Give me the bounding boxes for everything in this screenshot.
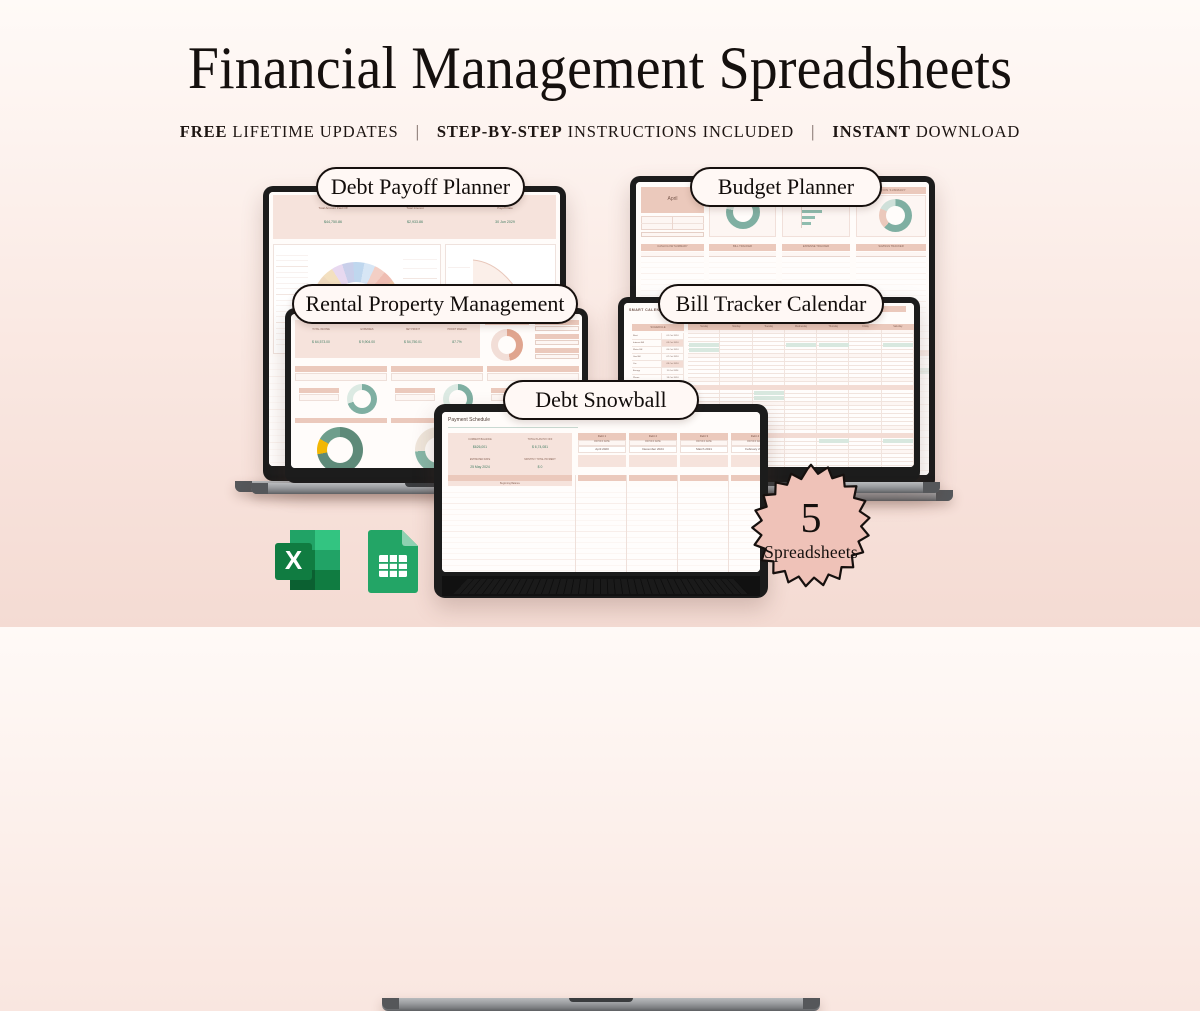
schedule-col-divider-1 (626, 475, 627, 572)
sheets-grid-line-h2 (379, 569, 407, 571)
bar-row-3 (802, 216, 815, 219)
badge-count: 5 (801, 499, 822, 539)
section-header-income-expenses (391, 366, 483, 372)
kpi-value-3: 87.7% (436, 340, 478, 344)
excel-letter: X (285, 545, 303, 575)
section-title-3: SAVINGS TRACKER (856, 245, 926, 248)
mid-label-1 (395, 388, 435, 393)
feature-strong-1: STEP-BY-STEP (437, 122, 563, 141)
laptop-screen: Payment Schedule CURRENT BALANCE TOTAL P… (442, 412, 760, 572)
schedule-item-date: 03 Oct 2024 (662, 340, 684, 347)
mid-label-0 (299, 388, 339, 393)
feature-rest-2: DOWNLOAD (911, 122, 1020, 141)
debt-card-title-0: Debt 1 (578, 434, 626, 438)
calendar-event-3 (819, 343, 849, 347)
snowball-summary-label-3: MONTHLY TOTAL PAYMENT (512, 458, 568, 461)
title-underline (448, 427, 578, 428)
feature-strong-2: INSTANT (832, 122, 910, 141)
file-format-icons: X (272, 524, 424, 596)
schedule-table-header-d1 (578, 475, 626, 481)
month-meta-divider (672, 216, 673, 230)
schedule-item-date: 09 Oct 2024 (662, 361, 684, 368)
schedule-col-divider-0 (575, 475, 576, 572)
excel-quad-br (315, 570, 340, 590)
calendar-event-4 (883, 343, 913, 347)
schedule-table-header-d3 (680, 475, 728, 481)
schedule-title: SCHEDULE (632, 325, 684, 329)
debt-card-date-2: March 2021 (680, 447, 728, 451)
debt-card-title-3: Debt 4 (731, 434, 760, 438)
kpi-label-2: NET PROFIT (391, 328, 435, 331)
debt-card-title-1: Debt 2 (629, 434, 677, 438)
schedule-item-name: Water Bill (632, 347, 662, 354)
footer-donut-hole-0 (327, 437, 353, 463)
debt-card-sublabel-0: PAYOFF DATE (578, 441, 626, 443)
kpi-label-3: PROFIT MARGIN (436, 328, 478, 331)
spreadsheet-count-badge: 5 Spreadsheets (742, 462, 880, 600)
summary-value-1: $2,933.86 (379, 220, 451, 224)
feature-rest-1: INSTRUCTIONS INCLUDED (563, 122, 795, 141)
debt-card-date-3: February 2026 (731, 447, 760, 451)
section-title-0: CASH FLOW SUMMARY (641, 245, 704, 248)
schedule-item-name: Internet Bill (632, 340, 662, 347)
excel-quad-tr (315, 530, 340, 550)
calendar-cell[interactable] (882, 466, 914, 467)
debt-card-sublabel-1: PAYOFF DATE (629, 441, 677, 443)
debt-card-sublabel-3: PAYOFF DATE (731, 441, 760, 443)
calendar-weekrow-1 (688, 385, 914, 390)
sheets-grid-line-h1 (379, 562, 407, 564)
feature-rest-0: LIFETIME UPDATES (227, 122, 398, 141)
occupancy-donut-hole (498, 336, 516, 354)
calendar-event-1 (689, 348, 719, 352)
snowball-summary-label-1: TOTAL PLAN PAY OFF (512, 438, 568, 441)
promo-canvas: Financial Management Spreadsheets FREE L… (0, 0, 1200, 627)
snowball-summary-value-0: $626,001 (452, 445, 508, 449)
mid-donut-hole-0 (353, 390, 371, 408)
pill-debt-payoff-planner[interactable]: Debt Payoff Planner (316, 167, 525, 207)
action-summary-donut-hole (886, 206, 905, 225)
page-title: Financial Management Spreadsheets (42, 34, 1158, 102)
beginning-balance-label: Beginning Balance (448, 482, 572, 485)
snowball-summary-value-3: $ 0 (512, 465, 568, 469)
schedule-table-header-d2 (629, 475, 677, 481)
excel-quad-mr (315, 550, 340, 570)
calendar-event-6 (754, 396, 784, 400)
debt-card-title-2: Debt 3 (680, 434, 728, 438)
pill-bill-tracker-calendar[interactable]: Bill Tracker Calendar (658, 284, 884, 324)
pill-label: Bill Tracker Calendar (676, 291, 867, 317)
feature-item-0: FREE LIFETIME UPDATES (180, 122, 399, 141)
feature-separator-1: | (811, 122, 815, 142)
schedule-item-name: Gas Bill (632, 354, 662, 361)
bar-row-4 (802, 222, 811, 225)
pill-rental-property-management[interactable]: Rental Property Management (292, 284, 578, 324)
calendar-event-8 (883, 439, 913, 443)
calendar-event-7 (819, 439, 849, 443)
pill-label: Debt Payoff Planner (331, 174, 510, 200)
excel-icon: X (272, 524, 344, 596)
kpi-band (295, 320, 480, 358)
debt-card-date-1: December 2024 (629, 447, 677, 451)
laptop-base-notch (569, 998, 633, 1002)
laptop-base (382, 998, 820, 1011)
sheets-grid-line-v1 (388, 555, 390, 577)
debt-card-rows-0 (578, 455, 626, 467)
snowball-summary-label-2: ESTIMATED DATE (452, 458, 508, 461)
google-sheets-icon (362, 524, 424, 596)
schedule-item-date: 11 Oct 2024 (662, 368, 684, 375)
month-dropdown (641, 232, 704, 237)
laptop-keyboard (442, 576, 760, 596)
footer-header-0 (295, 418, 387, 423)
debt-card-rows-2 (680, 455, 728, 467)
schedule-item-name: Car (632, 361, 662, 368)
section-sub-income-expenses (391, 373, 483, 381)
mid-value-0 (299, 394, 339, 401)
kpi-value-1: $ 9,904.00 (345, 340, 389, 344)
section-header-occupancy (487, 366, 579, 372)
debt-card-sublabel-2: PAYOFF DATE (680, 441, 728, 443)
schedule-item-date: 07 Oct 2024 (662, 354, 684, 361)
kpi-value-0: $ 64,573.00 (299, 340, 343, 344)
feature-list: FREE LIFETIME UPDATES | STEP-BY-STEP INS… (0, 122, 1200, 142)
schedule-item-name: Rent (632, 333, 662, 340)
select-property-input (535, 340, 579, 345)
select-unit-input (535, 354, 579, 359)
sheets-grid-line-v2 (397, 555, 399, 577)
badge-caption: Spreadsheets (764, 542, 858, 563)
select-property-header (535, 334, 579, 339)
snowball-summary-value-1: $ 6,74,081 (512, 445, 568, 449)
pill-debt-snowball[interactable]: Debt Snowball (503, 380, 699, 420)
schedule-col-divider-2 (677, 475, 678, 572)
feature-item-2: INSTANT DOWNLOAD (832, 122, 1020, 141)
kpi-label-0: TOTAL INCOME (299, 328, 343, 331)
bar-row-2 (802, 210, 822, 213)
feature-item-1: STEP-BY-STEP INSTRUCTIONS INCLUDED (437, 122, 794, 141)
laptop-lid: Payment Schedule CURRENT BALANCE TOTAL P… (434, 404, 768, 598)
select-year-input (535, 326, 579, 331)
snowball-summary-label-0: CURRENT BALANCE (452, 438, 508, 441)
schedule-item-date: 01 Oct 2024 (662, 333, 684, 340)
pill-label: Debt Snowball (535, 387, 666, 413)
feature-separator-0: | (416, 122, 420, 142)
calendar-event-0 (689, 343, 719, 347)
summary-value-0: $44,750.86 (289, 220, 377, 224)
snowball-summary-value-2: 25 May 2024 (452, 465, 508, 469)
schedule-col-divider-3 (728, 475, 729, 572)
calendar-event-5 (754, 391, 784, 395)
pill-label: Budget Planner (718, 174, 854, 200)
debt-card-rows-1 (629, 455, 677, 467)
schedule-item-date: 05 Oct 2024 (662, 347, 684, 354)
section-title-1: BILL TRACKER (709, 245, 776, 248)
section-title-2: EXPENSE TRACKER (782, 245, 850, 248)
sheets-grid-bg (379, 555, 407, 577)
kpi-label-1: EXPENSES (345, 328, 389, 331)
sheets-fold (402, 530, 418, 546)
section-sub-properties (295, 373, 387, 381)
select-unit-header (535, 348, 579, 353)
debt-snowball-sheet: Payment Schedule CURRENT BALANCE TOTAL P… (442, 412, 760, 572)
feature-strong-0: FREE (180, 122, 228, 141)
laptop-debt-snowball: Payment Schedule CURRENT BALANCE TOTAL P… (434, 404, 768, 598)
schedule-table-body (442, 487, 760, 572)
calendar-event-2 (786, 343, 816, 347)
summary-value-2: 30 Jun 2029 (469, 220, 541, 224)
kpi-value-2: $ 54,750.01 (391, 340, 435, 344)
debt-card-date-0: April 2020 (578, 447, 626, 451)
schedule-item-name: Energy (632, 368, 662, 375)
section-header-properties (295, 366, 387, 372)
mid-value-1 (395, 394, 435, 401)
pill-label: Rental Property Management (305, 291, 564, 317)
pill-budget-planner[interactable]: Budget Planner (690, 167, 882, 207)
